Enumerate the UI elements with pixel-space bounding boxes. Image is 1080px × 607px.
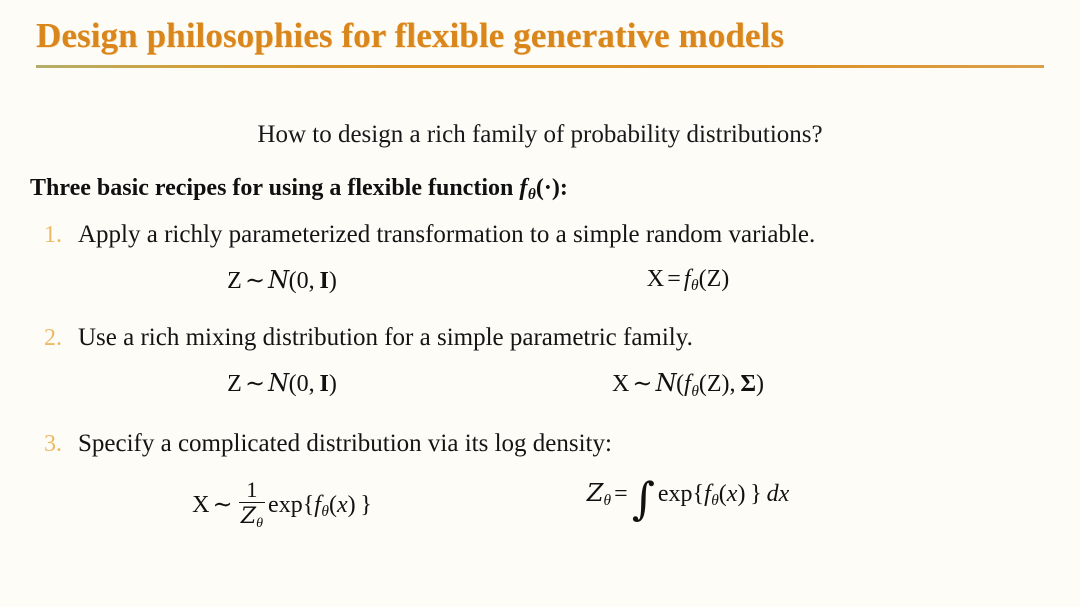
recipe-2-text: Use a rich mixing distribution for a sim… bbox=[78, 321, 693, 355]
title-block: Design philosophies for flexible generat… bbox=[0, 14, 1080, 68]
recipe-3-text: Specify a complicated distribution via i… bbox=[78, 427, 612, 461]
list-item-recipe-2: 2. Use a rich mixing distribution for a … bbox=[0, 321, 1080, 400]
recipe-3-equation-right: Zθ=∫exp{fθ(x) } dx bbox=[478, 479, 898, 537]
recipe-2-head: 2. Use a rich mixing distribution for a … bbox=[0, 321, 1080, 355]
recipe-1-equation-left: Z∼N(0, I) bbox=[86, 266, 478, 295]
recipe-1-number: 1. bbox=[44, 218, 78, 252]
recipe-3-equation-left: X∼1Zθexp{fθ(x) } bbox=[86, 479, 478, 537]
lead-in-line: Three basic recipes for using a flexible… bbox=[30, 172, 568, 211]
question-line: How to design a rich family of probabili… bbox=[0, 118, 1080, 152]
recipe-2-number: 2. bbox=[44, 321, 78, 355]
title-underline-rule bbox=[36, 65, 1044, 68]
recipe-3-number: 3. bbox=[44, 427, 78, 461]
recipe-1-equations: Z∼N(0, I) X=fθ(Z) bbox=[0, 266, 1080, 295]
recipe-1-equation-right: X=fθ(Z) bbox=[478, 266, 898, 295]
list-item-recipe-1: 1. Apply a richly parameterized transfor… bbox=[0, 218, 1080, 295]
lead-in-prefix: Three basic recipes for using a flexible… bbox=[30, 175, 519, 201]
recipe-3-head: 3. Specify a complicated distribution vi… bbox=[0, 427, 1080, 461]
lead-in-function-math: fθ(·) bbox=[519, 172, 560, 211]
recipe-1-text: Apply a richly parameterized transformat… bbox=[78, 218, 815, 252]
list-item-recipe-3: 3. Specify a complicated distribution vi… bbox=[0, 427, 1080, 537]
recipe-2-equations: Z∼N(0, I) X∼N(fθ(Z), Σ) bbox=[0, 369, 1080, 400]
recipe-3-equations: X∼1Zθexp{fθ(x) } Zθ=∫exp{fθ(x) } dx bbox=[0, 479, 1080, 537]
recipes-list: 1. Apply a richly parameterized transfor… bbox=[0, 218, 1080, 536]
page-title: Design philosophies for flexible generat… bbox=[0, 14, 1080, 58]
recipe-2-equation-left: Z∼N(0, I) bbox=[86, 369, 478, 400]
slide-root: Design philosophies for flexible generat… bbox=[0, 0, 1080, 607]
recipe-2-equation-right: X∼N(fθ(Z), Σ) bbox=[478, 369, 898, 400]
recipe-1-head: 1. Apply a richly parameterized transfor… bbox=[0, 218, 1080, 252]
lead-in-suffix: : bbox=[560, 175, 568, 201]
